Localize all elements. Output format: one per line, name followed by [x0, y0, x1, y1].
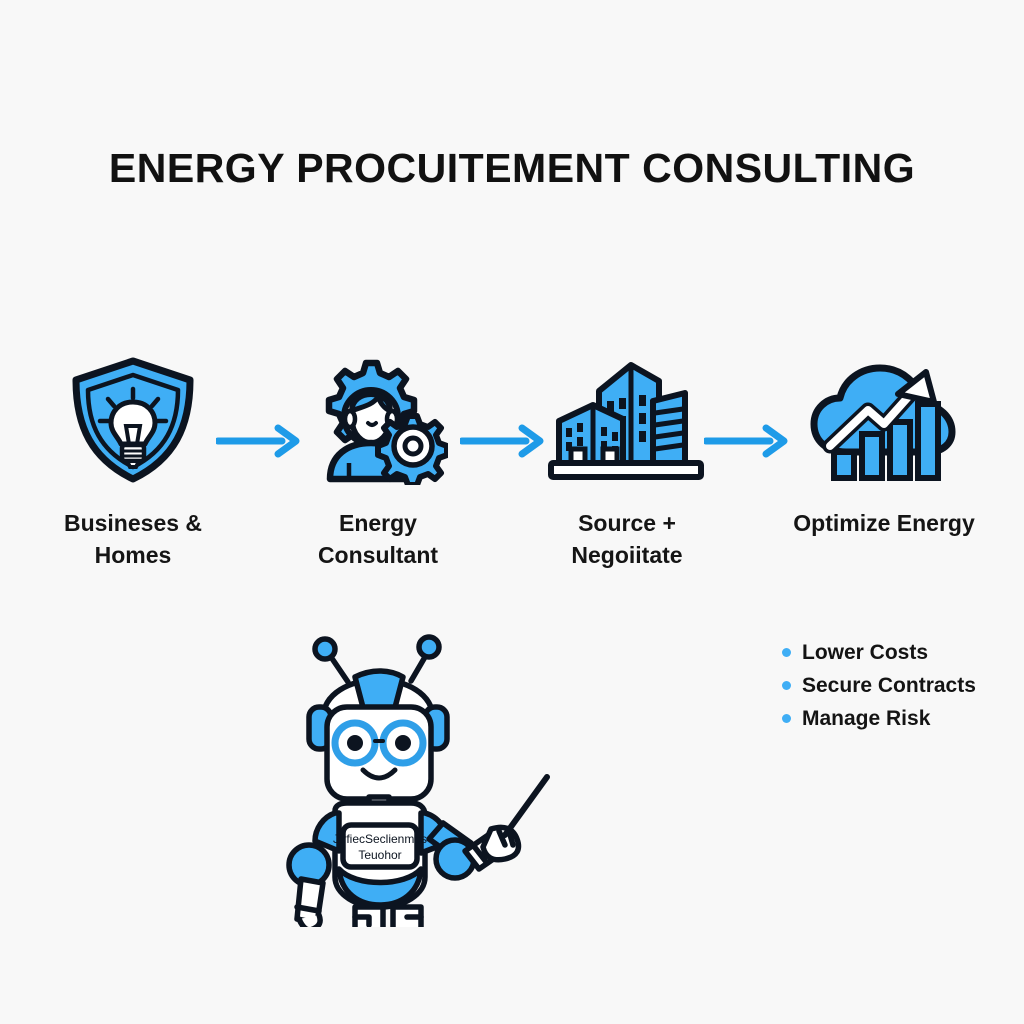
bullet-dot-icon: [782, 648, 791, 657]
robot-teacher-icon: JtrfiecSeclienmes Teuohor: [243, 607, 563, 927]
process-step-1-label: Busineses & Homes: [33, 507, 233, 571]
process-step-3-label: Source + Negoiitate: [527, 507, 727, 571]
benefits-list: Lower Costs Secure Contracts Manage Risk: [782, 636, 1022, 735]
benefit-label: Manage Risk: [802, 707, 930, 731]
office-buildings-icon: [527, 355, 727, 485]
page-title: ENERGY PROCUITEMENT CONSULTING: [0, 145, 1024, 192]
infographic-canvas: ENERGY PROCUITEMENT CONSULTING: [0, 0, 1024, 1024]
shield-lightbulb-icon: [33, 355, 233, 485]
benefit-item: Manage Risk: [782, 702, 1022, 735]
person-gear-icon: [278, 355, 478, 485]
bullet-dot-icon: [782, 681, 791, 690]
bullet-dot-icon: [782, 714, 791, 723]
process-step-2: Energy Consultant: [278, 355, 478, 571]
robot-badge-line-2: Teuohor: [358, 848, 401, 862]
robot-badge-line-1: JtrfiecSeclienmes: [333, 832, 427, 846]
process-step-2-label: Energy Consultant: [278, 507, 478, 571]
process-step-1: Busineses & Homes: [33, 355, 233, 571]
process-step-4: Optimize Energy: [784, 355, 984, 539]
process-step-3: Source + Negoiitate: [527, 355, 727, 571]
process-step-4-label: Optimize Energy: [784, 507, 984, 539]
cloud-bar-chart-growth-icon: [784, 355, 984, 485]
benefit-label: Lower Costs: [802, 641, 928, 665]
arrow-right-icon: [704, 424, 790, 458]
benefit-label: Secure Contracts: [802, 674, 976, 698]
benefit-item: Secure Contracts: [782, 669, 1022, 702]
benefit-item: Lower Costs: [782, 636, 1022, 669]
